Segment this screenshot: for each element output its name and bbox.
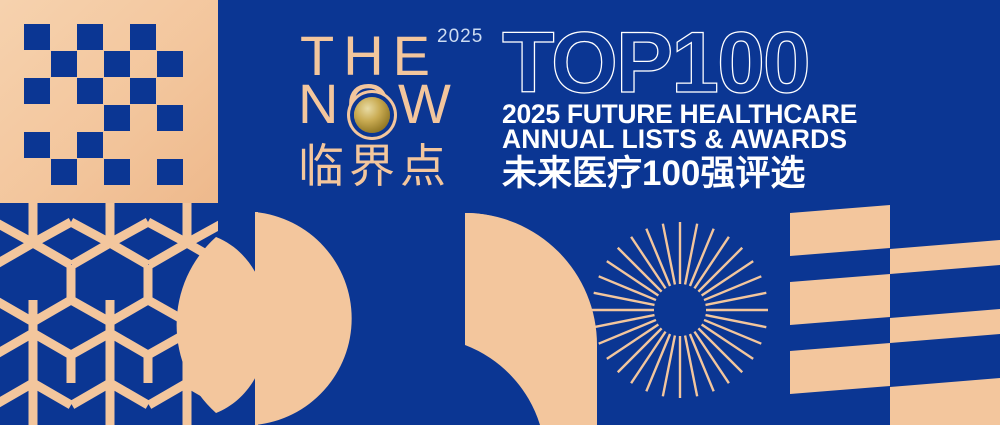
decor-graphics-layer xyxy=(0,0,1000,425)
diagonal-stripe-blocks xyxy=(790,196,1000,425)
half-disc-stem xyxy=(255,212,258,425)
top100-award-banner: THE 2025 NOW 临界点 TOP100 2025 FUTURE HEAL… xyxy=(0,0,1000,425)
checkerboard-pattern xyxy=(0,0,218,203)
